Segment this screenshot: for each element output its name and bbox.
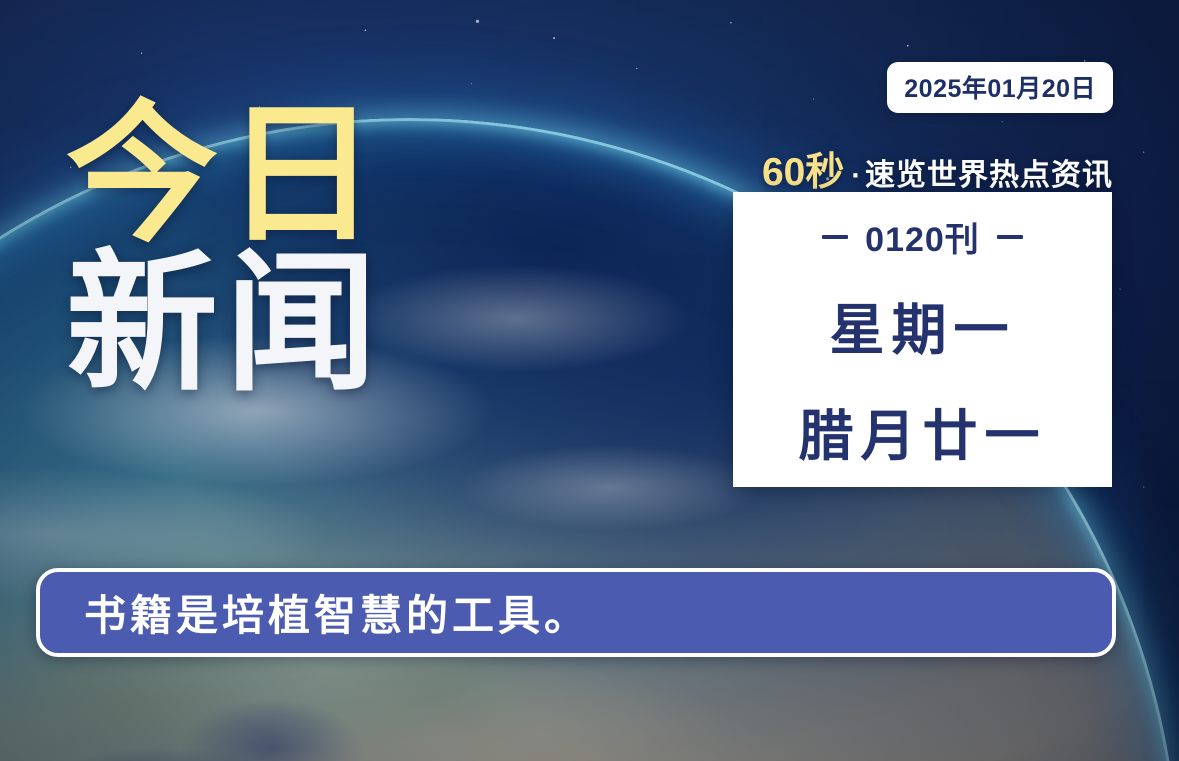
issue-row: 0120刊	[822, 212, 1023, 261]
lunar-date-label: 腊月廿一	[798, 391, 1046, 471]
title-line-today: 今日	[66, 104, 384, 247]
news-poster: 今日 新闻 2025年01月20日 60秒 · 速览世界热点资讯 0120刊 星…	[0, 0, 1179, 761]
issue-info-card: 0120刊 星期一 腊月廿一	[733, 192, 1112, 487]
tagline-highlight: 60秒	[762, 141, 844, 197]
tagline-separator-dot: ·	[851, 160, 861, 193]
weekday-label: 星期一	[829, 285, 1015, 365]
issue-number: 0120刊	[865, 212, 980, 261]
quote-text: 书籍是培植智慧的工具。	[40, 582, 590, 643]
dash-left-icon	[822, 235, 848, 239]
tagline: 60秒 · 速览世界热点资讯	[762, 141, 1113, 197]
date-badge: 2025年01月20日	[887, 62, 1113, 113]
title-line-news: 新闻	[66, 253, 384, 396]
page-title: 今日 新闻	[66, 104, 384, 396]
dash-right-icon	[997, 235, 1023, 239]
quote-bar: 书籍是培植智慧的工具。	[36, 568, 1116, 657]
tagline-subtitle: 速览世界热点资讯	[865, 150, 1113, 194]
